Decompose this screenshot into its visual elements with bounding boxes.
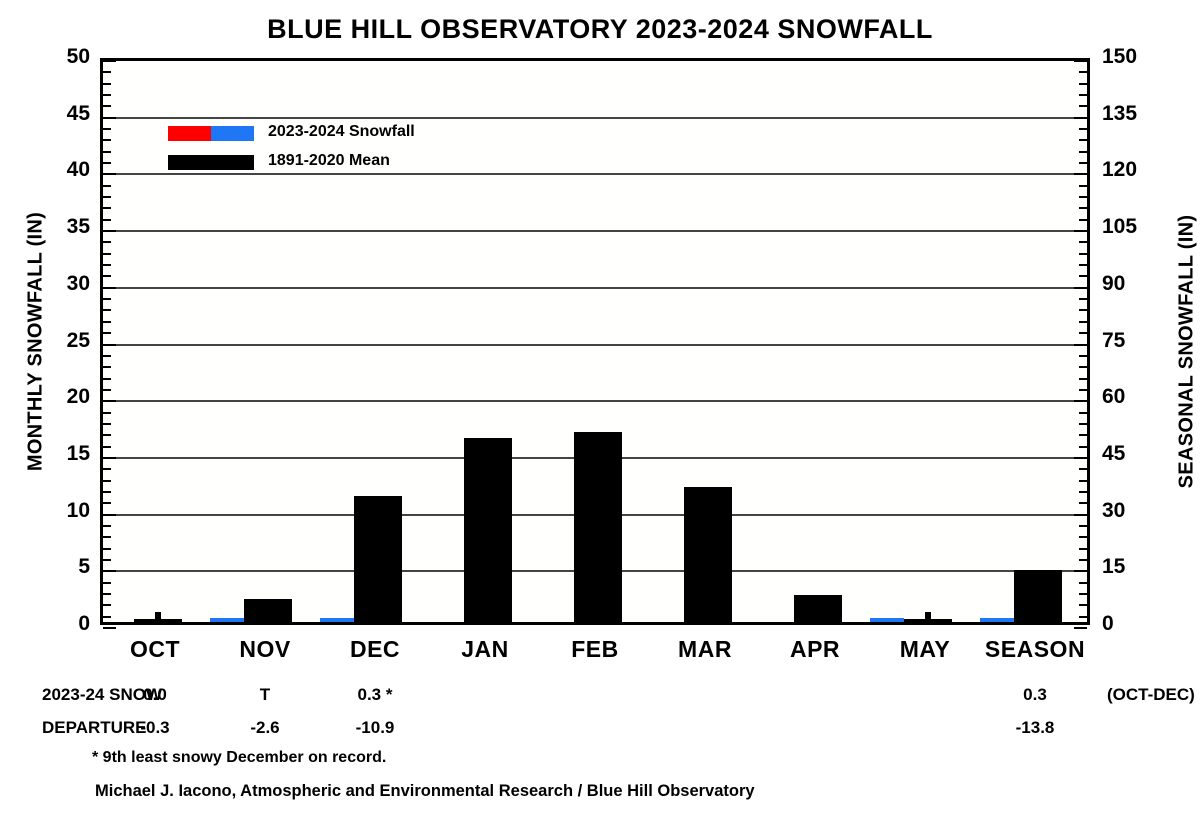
tick-major-left <box>103 627 116 629</box>
y-axis-left-tick-label: 5 <box>30 555 90 579</box>
bar-mean <box>354 496 402 622</box>
bar-mean <box>684 487 732 622</box>
y-axis-right-tick-label: 60 <box>1102 385 1162 409</box>
x-axis-tick-label: DEC <box>320 636 430 663</box>
y-axis-left-tick-label: 40 <box>30 158 90 182</box>
x-axis-tick-label: MAY <box>870 636 980 663</box>
legend-swatch-observed-blue <box>211 126 254 141</box>
bar-mean-spike <box>155 612 161 622</box>
legend-item-mean: 1891-2020 Mean <box>168 152 498 174</box>
footnote-asterisk: * 9th least snowy December on record. <box>92 749 386 767</box>
snow-value: T <box>205 685 325 705</box>
y-axis-left-tick-label: 50 <box>30 45 90 69</box>
x-axis-tick-label: APR <box>760 636 870 663</box>
departure-value: -0.3 <box>95 718 215 738</box>
y-axis-right-title: SEASONAL SNOWFALL (IN) <box>1176 142 1199 562</box>
plot-area: 2023-2024 Snowfall 1891-2020 Mean <box>100 58 1090 625</box>
bar-mean <box>1014 570 1062 622</box>
legend-label-observed: 2023-2024 Snowfall <box>268 123 415 141</box>
bar-observed <box>320 618 354 622</box>
season-period-note: (OCT-DEC) <box>1107 685 1195 705</box>
bar-mean <box>464 438 512 622</box>
snow-value: 0.0 <box>95 685 215 705</box>
y-axis-right-tick-label: 120 <box>1102 158 1162 182</box>
y-axis-right-tick-label: 45 <box>1102 442 1162 466</box>
bar-mean <box>244 599 292 622</box>
x-axis-tick-label: MAR <box>650 636 760 663</box>
y-axis-left-tick-label: 0 <box>30 612 90 636</box>
y-axis-right-tick-label: 15 <box>1102 555 1162 579</box>
bar-observed <box>870 618 904 622</box>
departure-row: DEPARTURE -0.3-2.6-10.9-13.8 <box>0 718 1200 744</box>
departure-value: -10.9 <box>315 718 435 738</box>
y-axis-right-tick-label: 0 <box>1102 612 1162 636</box>
legend-swatch-observed <box>168 126 254 141</box>
legend: 2023-2024 Snowfall 1891-2020 Mean <box>168 123 498 181</box>
y-axis-right-tick-label: 150 <box>1102 45 1162 69</box>
y-axis-right-tick-label: 135 <box>1102 102 1162 126</box>
legend-swatch-mean-fill <box>168 155 254 170</box>
y-axis-right-tick-label: 90 <box>1102 272 1162 296</box>
page-title: BLUE HILL OBSERVATORY 2023-2024 SNOWFALL <box>0 14 1200 45</box>
footnote-credit: Michael J. Iacono, Atmospheric and Envir… <box>95 782 755 801</box>
y-axis-right-tick-label: 75 <box>1102 329 1162 353</box>
y-axis-left-tick-label: 30 <box>30 272 90 296</box>
snow-row: 2023-24 SNOW 0.0T0.3 *0.3(OCT-DEC) <box>0 685 1200 711</box>
x-axis-tick-label: NOV <box>210 636 320 663</box>
bar-observed <box>210 618 244 622</box>
tick-major-right <box>1074 627 1087 629</box>
bar-mean <box>574 432 622 623</box>
departure-value: -13.8 <box>975 718 1095 738</box>
snow-value: 0.3 <box>975 685 1095 705</box>
x-axis-tick-label: SEASON <box>980 636 1090 663</box>
departure-value: -2.6 <box>205 718 325 738</box>
y-axis-right-tick-label: 30 <box>1102 499 1162 523</box>
y-axis-left-tick-label: 10 <box>30 499 90 523</box>
y-axis-left-tick-label: 25 <box>30 329 90 353</box>
bar-mean-spike <box>925 612 931 622</box>
x-axis-tick-label: FEB <box>540 636 650 663</box>
snow-value: 0.3 * <box>315 685 435 705</box>
y-axis-left-tick-label: 20 <box>30 385 90 409</box>
legend-item-observed: 2023-2024 Snowfall <box>168 123 498 145</box>
x-axis-labels: OCTNOVDECJANFEBMARAPRMAYSEASON <box>100 636 1090 666</box>
x-axis-tick-label: JAN <box>430 636 540 663</box>
bar-mean <box>794 595 842 622</box>
bar-observed <box>980 618 1014 622</box>
x-axis-tick-label: OCT <box>100 636 210 663</box>
y-axis-left-tick-label: 45 <box>30 102 90 126</box>
y-axis-left-tick-label: 15 <box>30 442 90 466</box>
legend-swatch-observed-red <box>168 126 211 141</box>
legend-label-mean: 1891-2020 Mean <box>268 152 390 170</box>
legend-swatch-mean <box>168 155 254 170</box>
y-axis-right-tick-label: 105 <box>1102 215 1162 239</box>
y-axis-left-tick-label: 35 <box>30 215 90 239</box>
